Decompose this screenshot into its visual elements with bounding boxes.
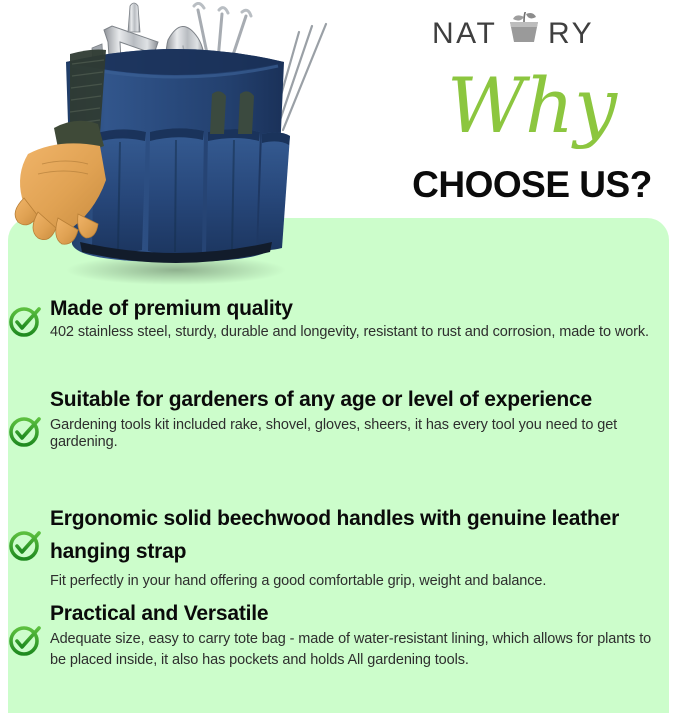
choose-us-heading: CHOOSE US?	[392, 164, 672, 206]
brand-logo: NAT RY	[392, 12, 672, 54]
check-circle-icon	[8, 304, 42, 338]
check-circle-icon	[8, 623, 42, 657]
svg-text:NAT: NAT	[432, 17, 497, 50]
benefit-title: Suitable for gardeners of any age or lev…	[50, 386, 653, 414]
plant-pot-sprout-icon	[510, 12, 538, 42]
benefit-title: Ergonomic solid beechwood handles with g…	[50, 502, 653, 568]
benefit-description: Gardening tools kit included rake, shove…	[50, 417, 653, 451]
benefit-item: Suitable for gardeners of any age or lev…	[8, 386, 653, 451]
product-photo	[8, 2, 338, 290]
check-circle-icon	[8, 414, 42, 448]
benefit-description: Adequate size, easy to carry tote bag - …	[50, 629, 653, 671]
brand-header: NAT RY Why CHOOSE US?	[392, 6, 672, 211]
svg-text:RY: RY	[548, 17, 594, 50]
benefit-item: Ergonomic solid beechwood handles with g…	[8, 502, 653, 590]
check-circle-icon	[8, 528, 42, 562]
why-script-glyphs: Why	[447, 61, 618, 150]
benefit-title: Made of premium quality	[50, 296, 653, 321]
benefit-item: Made of premium quality 402 stainless st…	[8, 296, 653, 341]
benefit-description: Fit perfectly in your hand offering a go…	[50, 573, 653, 590]
benefit-item: Practical and Versatile Adequate size, e…	[8, 601, 653, 671]
garden-gloves	[15, 121, 106, 244]
benefit-description: 402 stainless steel, sturdy, durable and…	[50, 324, 653, 341]
benefit-title: Practical and Versatile	[50, 601, 653, 626]
why-script-word: Why	[392, 58, 672, 158]
